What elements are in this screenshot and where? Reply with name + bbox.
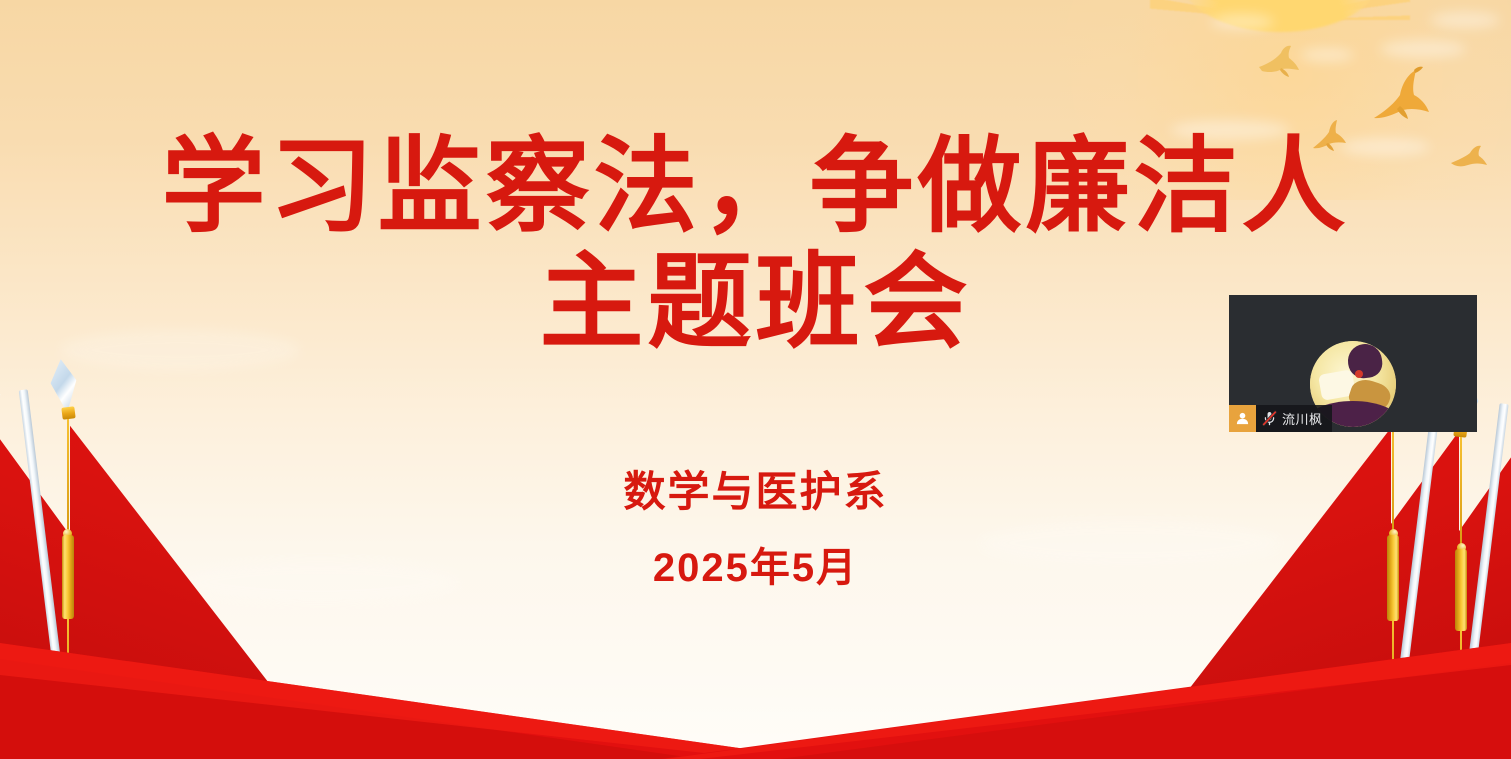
flag-tassel	[62, 705, 74, 759]
participant-name-bar: 流川枫	[1229, 405, 1332, 432]
tassel-cord	[67, 619, 69, 707]
cloud-decoration	[1300, 48, 1354, 62]
microphone-muted-icon	[1256, 405, 1282, 432]
subtitle-date: 2025年5月	[0, 530, 1511, 606]
tassel-cord	[1460, 631, 1462, 715]
participant-name: 流川枫	[1282, 409, 1323, 428]
flag-tassel	[1387, 705, 1399, 759]
spear-tip-icon	[0, 372, 4, 429]
cloud-decoration	[1430, 12, 1500, 28]
flag-collar	[61, 406, 75, 419]
subtitle-department: 数学与医护系	[0, 454, 1511, 530]
bird-icon	[1257, 42, 1303, 82]
title-line-1: 学习监察法，争做廉洁人	[0, 128, 1511, 244]
person-icon	[1229, 405, 1256, 432]
flag-tassel	[1455, 713, 1467, 759]
presentation-slide: 学习监察法，争做廉洁人 主题班会 数学与医护系 2025年5月	[0, 0, 1511, 759]
cloud-decoration	[1210, 14, 1274, 30]
bird-icon	[1370, 62, 1432, 124]
tassel-cord	[1392, 621, 1394, 707]
participant-video-tile[interactable]: 流川枫	[1229, 295, 1477, 432]
slide-subtitle: 数学与医护系 2025年5月	[0, 454, 1511, 606]
cloud-decoration	[1380, 40, 1466, 58]
avatar-accent-dot	[1355, 370, 1363, 378]
